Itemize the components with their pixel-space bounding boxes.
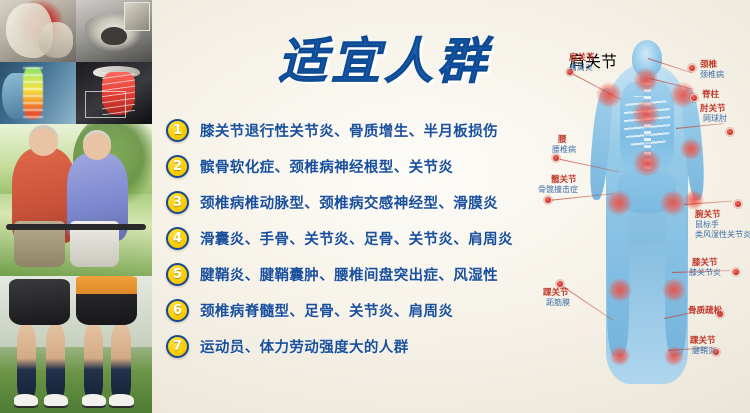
callout-dot — [732, 268, 740, 276]
list-item-label: 颈椎病脊髓型、足骨、关节炎、肩周炎 — [200, 300, 453, 321]
chest-xray-thumb — [76, 62, 152, 124]
list-item: 4 滑囊炎、手骨、关节炎、足骨、关节炎、肩周炎 — [166, 220, 526, 256]
callout-title-text: 骨质疏松 — [688, 306, 722, 317]
list-item: 3 颈椎病椎动脉型、颈椎病交感神经型、滑膜炎 — [166, 184, 526, 220]
list-item-label: 膝关节退行性关节炎、骨质增生、半月板损伤 — [200, 120, 498, 141]
indication-list: 1 膝关节退行性关节炎、骨质增生、半月板损伤 2 髌骨软化症、颈椎病神经根型、关… — [166, 112, 526, 364]
list-item-number: 7 — [166, 335, 189, 358]
list-item: 7 运动员、体力劳动强度大的人群 — [166, 328, 526, 364]
knee-xray-thumb — [0, 0, 76, 62]
spine-mri-thumb — [0, 62, 76, 124]
list-item-label: 颈椎病椎动脉型、颈椎病交感神经型、滑膜炎 — [200, 192, 498, 213]
photo-collage — [0, 0, 152, 413]
callout-dot — [556, 280, 564, 288]
callout-dot — [726, 128, 734, 136]
list-item-number: 5 — [166, 263, 189, 286]
hotspot-knee-left — [608, 278, 632, 302]
list-item: 6 颈椎病脊髓型、足骨、关节炎、肩周炎 — [166, 292, 526, 328]
infographic-root: 适宜人群 1 膝关节退行性关节炎、骨质增生、半月板损伤 2 髌骨软化症、颈椎病神… — [0, 0, 750, 413]
hotspot-wrist-right — [684, 190, 704, 210]
callout-sub-text: 腰椎病 — [552, 145, 576, 155]
hotspot-ankle-left — [610, 346, 630, 366]
page-title: 适宜人群 — [278, 22, 490, 93]
list-item: 2 髌骨软化症、颈椎病神经根型、关节炎 — [166, 148, 526, 184]
callout-sub-text: 肩周炎 — [569, 63, 593, 73]
list-item-number: 1 — [166, 119, 189, 142]
hotspot-knee-right — [662, 278, 686, 302]
list-item-number: 4 — [166, 227, 189, 250]
athletes-legs-photo — [0, 276, 152, 413]
hotspot-shoulder-left — [596, 82, 622, 108]
callout-dot — [690, 94, 698, 102]
callout-sub-text: 膝关节炎 — [689, 268, 721, 278]
hotspot-elbow-right — [680, 138, 702, 160]
callout-dot — [734, 200, 742, 208]
pelvis-xray-thumb — [76, 0, 152, 62]
callout-dot — [544, 196, 552, 204]
callout-sub-text: 跖筋膜 — [546, 298, 570, 308]
list-item: 1 膝关节退行性关节炎、骨质增生、半月板损伤 — [166, 112, 526, 148]
list-item-number: 2 — [166, 155, 189, 178]
callout-dot — [688, 64, 696, 72]
callout-dot — [552, 154, 560, 162]
list-item-number: 3 — [166, 191, 189, 214]
list-item-label: 运动员、体力劳动强度大的人群 — [200, 336, 409, 357]
hotspot-thoracic — [632, 100, 660, 128]
list-item-label: 滑囊炎、手骨、关节炎、足骨、关节炎、肩周炎 — [200, 228, 513, 249]
list-item-number: 6 — [166, 299, 189, 322]
callout-title-text: 脊柱 — [702, 90, 719, 101]
callout-sub-text: 颈椎病 — [700, 70, 724, 80]
list-item-label: 腱鞘炎、腱鞘囊肿、腰椎间盘突出症、风湿性 — [200, 264, 498, 285]
list-item: 5 腱鞘炎、腱鞘囊肿、腰椎间盘突出症、风湿性 — [166, 256, 526, 292]
list-item-label: 髌骨软化症、颈椎病神经根型、关节炎 — [200, 156, 453, 177]
hotspot-hip-right — [660, 190, 686, 216]
hotspot-lumbar — [632, 150, 662, 176]
callout-sub-text: 腱鞘炎 — [692, 346, 716, 356]
callout-sub-text: 鼠标手 类风湿性关节炎 — [695, 220, 750, 240]
callout-sub-text: 网球肘 — [703, 114, 727, 124]
elderly-couple-bicycles-photo — [0, 124, 152, 276]
callout-sub-text: 骨髋撞击症 — [538, 185, 578, 195]
